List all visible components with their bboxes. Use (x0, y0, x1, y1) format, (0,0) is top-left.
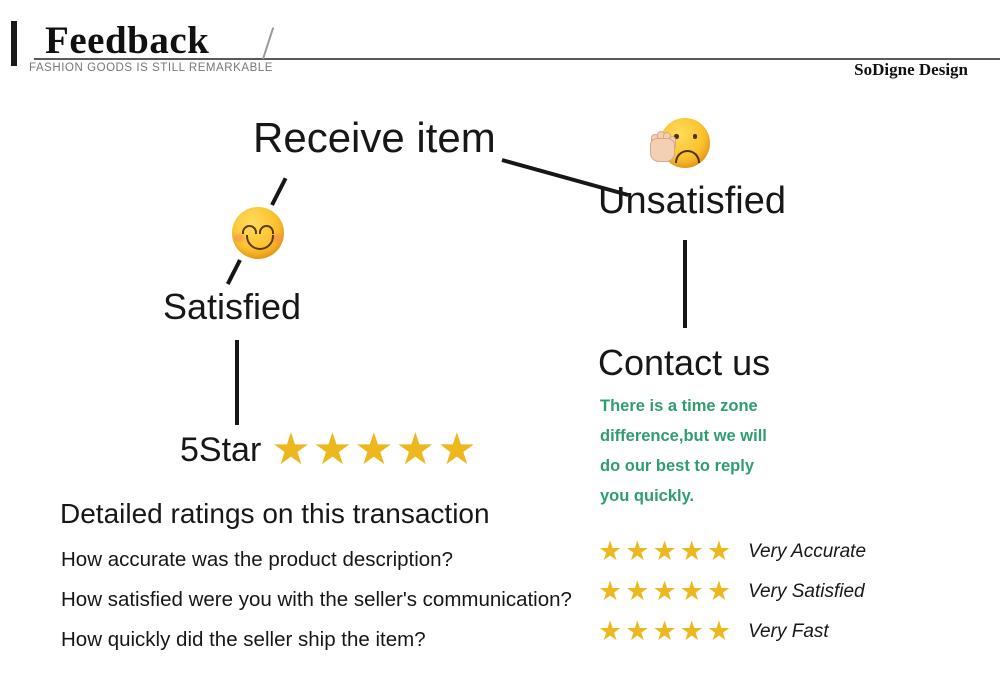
connector-receive-to-satisfied (270, 177, 287, 206)
star-icon: ★ (271, 428, 310, 472)
star-icon: ★ (680, 578, 704, 605)
rating-verdict-2: Very Fast (748, 621, 829, 643)
star-icon: ★ (437, 428, 476, 472)
feedback-infographic: Feedback FASHION GOODS IS STILL REMARKAB… (0, 0, 1000, 688)
flow-node-unsatisfied: Unsatisfied (598, 180, 786, 223)
page-title: Feedback (45, 19, 209, 63)
header-accent-bar (11, 21, 17, 66)
star-icon: ★ (354, 428, 393, 472)
star-icon: ★ (652, 538, 676, 565)
star-group-main: ★★★★★ (271, 428, 478, 472)
flow-node-satisfied: Satisfied (163, 286, 301, 328)
rating-row-1: ★★★★★ Very Satisfied (598, 578, 865, 605)
contact-note: There is a time zone difference,but we w… (600, 391, 850, 511)
star-icon: ★ (625, 578, 649, 605)
rating-verdict-0: Very Accurate (748, 541, 866, 563)
star-icon: ★ (652, 618, 676, 645)
header-subtitle: FASHION GOODS IS STILL REMARKABLE (29, 62, 273, 74)
rating-verdict-1: Very Satisfied (748, 581, 865, 603)
star-icon: ★ (625, 618, 649, 645)
five-star-label: 5Star (180, 431, 261, 470)
connector-satisfied-to-5star (235, 340, 239, 425)
rating-row-2: ★★★★★ Very Fast (598, 618, 829, 645)
star-icon: ★ (707, 618, 731, 645)
contact-note-line-3: do our best to reply (600, 451, 850, 481)
detailed-ratings-heading: Detailed ratings on this transaction (60, 498, 490, 530)
star-icon: ★ (598, 618, 622, 645)
star-icon: ★ (707, 578, 731, 605)
rating-question-0: How accurate was the product description… (61, 548, 453, 572)
rating-question-2: How quickly did the seller ship the item… (61, 628, 426, 652)
rating-row-0: ★★★★★ Very Accurate (598, 538, 866, 565)
header-slash-decoration (262, 27, 274, 59)
contact-note-line-1: There is a time zone (600, 391, 850, 421)
contact-note-line-2: difference,but we will (600, 421, 850, 451)
star-icon: ★ (707, 538, 731, 565)
star-icon: ★ (652, 578, 676, 605)
rating-question-1: How satisfied were you with the seller's… (61, 588, 572, 612)
star-icon: ★ (598, 578, 622, 605)
connector-unsatisfied-to-contact (683, 240, 687, 328)
star-icon: ★ (680, 538, 704, 565)
star-group-2: ★★★★★ (598, 618, 734, 645)
star-group-1: ★★★★★ (598, 578, 734, 605)
flow-node-receive-item: Receive item (253, 114, 496, 162)
connector-smiley-to-satisfied (226, 259, 242, 285)
brand-name: SoDigne Design (854, 60, 968, 80)
contact-note-line-4: you quickly. (600, 481, 850, 511)
star-icon: ★ (625, 538, 649, 565)
star-group-0: ★★★★★ (598, 538, 734, 565)
star-icon: ★ (680, 618, 704, 645)
star-icon: ★ (598, 538, 622, 565)
star-icon: ★ (396, 428, 435, 472)
smiling-face-icon (232, 207, 284, 259)
five-star-row: 5Star ★★★★★ (180, 428, 479, 472)
raised-hand-icon (650, 129, 674, 160)
flow-node-contact-us: Contact us (598, 342, 770, 384)
star-icon: ★ (313, 428, 352, 472)
